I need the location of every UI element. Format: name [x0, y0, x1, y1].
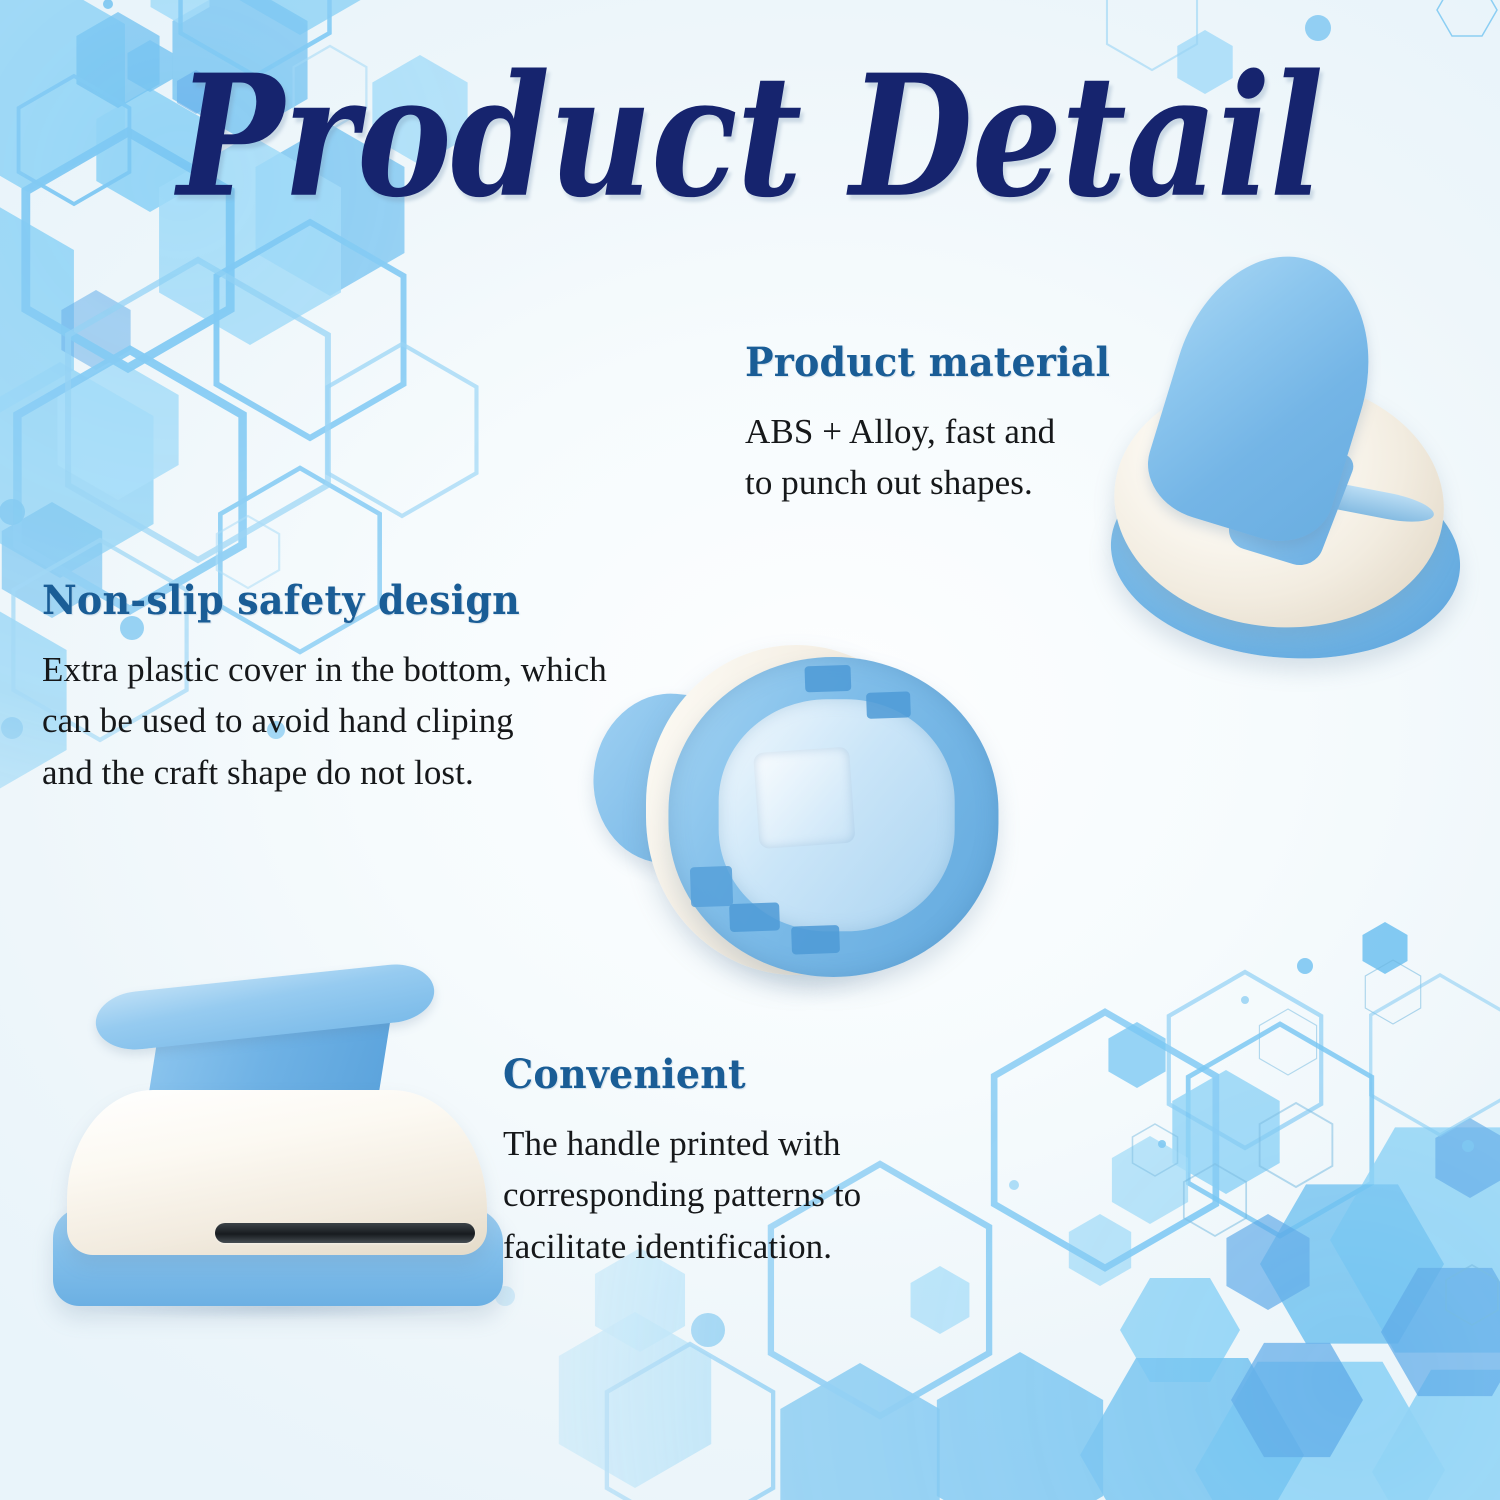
page-title-wrapper: Product Detail: [0, 52, 1500, 197]
feature-body-nonslip: Extra plastic cover in the bottom, which…: [42, 644, 762, 798]
feature-heading-material: Product material: [745, 340, 1154, 386]
punch-blade-area: [753, 747, 855, 849]
feature-block-material: Product material ABS + Alloy, fast and t…: [745, 340, 1175, 509]
punch-notch: [866, 691, 911, 719]
feature-block-nonslip: Non-slip safety design Extra plastic cov…: [42, 578, 762, 798]
punch-paper-slot: [215, 1223, 475, 1243]
feature-body-line: corresponding patterns to: [503, 1169, 973, 1220]
punch-notch: [791, 925, 840, 955]
feature-body-line: The handle printed with: [503, 1118, 973, 1169]
product-photo-convenient: [45, 960, 515, 1350]
feature-body-line: and the craft shape do not lost.: [42, 747, 762, 798]
feature-body-line: to punch out shapes.: [745, 457, 1175, 508]
feature-body-line: facilitate identification.: [503, 1221, 973, 1272]
hexagon-accents-middle-right: [1009, 922, 1421, 1236]
punch-notch: [690, 866, 733, 907]
product-detail-poster: Product Detail: [0, 0, 1500, 1500]
punch-notch: [804, 665, 851, 693]
feature-body-line: can be used to avoid hand cliping: [42, 695, 762, 746]
feature-heading-nonslip: Non-slip safety design: [42, 578, 726, 624]
feature-block-convenient: Convenient The handle printed with corre…: [503, 1052, 973, 1272]
feature-heading-convenient: Convenient: [503, 1052, 950, 1098]
feature-body-material: ABS + Alloy, fast and to punch out shape…: [745, 406, 1175, 509]
feature-body-convenient: The handle printed with corresponding pa…: [503, 1118, 973, 1272]
feature-body-line: Extra plastic cover in the bottom, which: [42, 644, 762, 695]
page-title: Product Detail: [177, 52, 1322, 223]
punch-notch: [729, 902, 780, 932]
feature-body-line: ABS + Alloy, fast and: [745, 406, 1175, 457]
